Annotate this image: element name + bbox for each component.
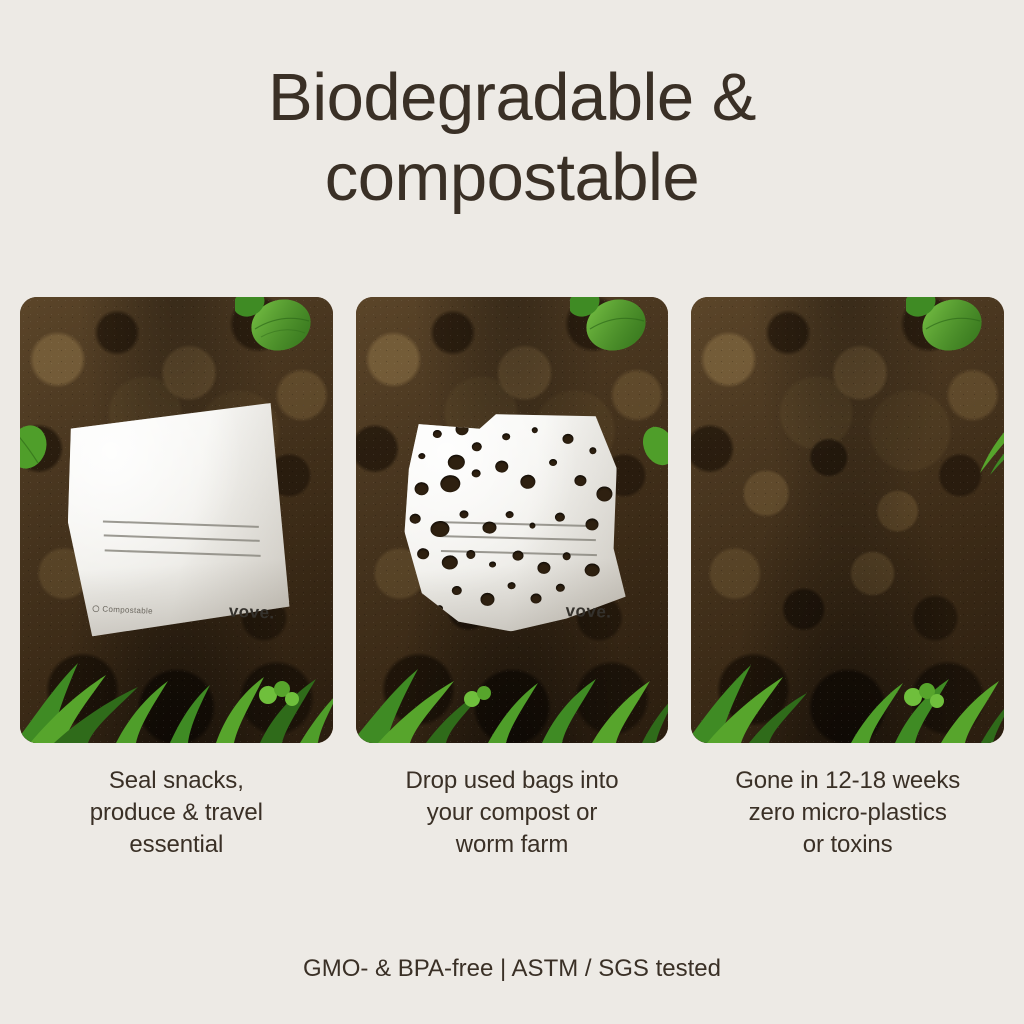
side-grass-icon	[970, 417, 1004, 475]
image-panel-row: Compostable vove.	[20, 297, 1004, 743]
grass-blades	[20, 623, 333, 743]
seedling-leaf-icon	[570, 297, 656, 367]
seedling-leaf-icon	[235, 297, 321, 367]
compostable-bag-degraded: vove.	[397, 402, 628, 639]
grass-blades	[356, 623, 669, 743]
panel-intact-bag[interactable]: Compostable vove.	[20, 297, 333, 743]
compostable-bag-intact: Compostable vove.	[62, 403, 291, 638]
panel-empty-soil[interactable]	[691, 297, 1004, 743]
caption-panel-1: Seal snacks, produce & travel essential	[20, 765, 333, 861]
side-leaf-icon	[634, 417, 668, 475]
caption-panel-3: Gone in 12-18 weeks zero micro-plastics …	[691, 765, 1004, 861]
seedling-certification-icon	[93, 605, 100, 612]
seedling-leaf-icon	[906, 297, 992, 367]
panel-degraded-bag[interactable]: vove.	[356, 297, 669, 743]
caption-row: Seal snacks, produce & travel essential …	[20, 765, 1004, 861]
bag-ruled-lines	[103, 511, 261, 569]
grass-blades	[691, 623, 1004, 743]
certification-footer: GMO- & BPA-free | ASTM / SGS tested	[0, 955, 1024, 983]
bag-brand-logo: vove.	[229, 601, 276, 623]
page-title: Biodegradable & compostable	[0, 58, 1024, 218]
caption-panel-2: Drop used bags into your compost or worm…	[356, 765, 669, 861]
bag-brand-logo: vove.	[565, 601, 612, 623]
side-leaf-icon	[20, 415, 56, 479]
